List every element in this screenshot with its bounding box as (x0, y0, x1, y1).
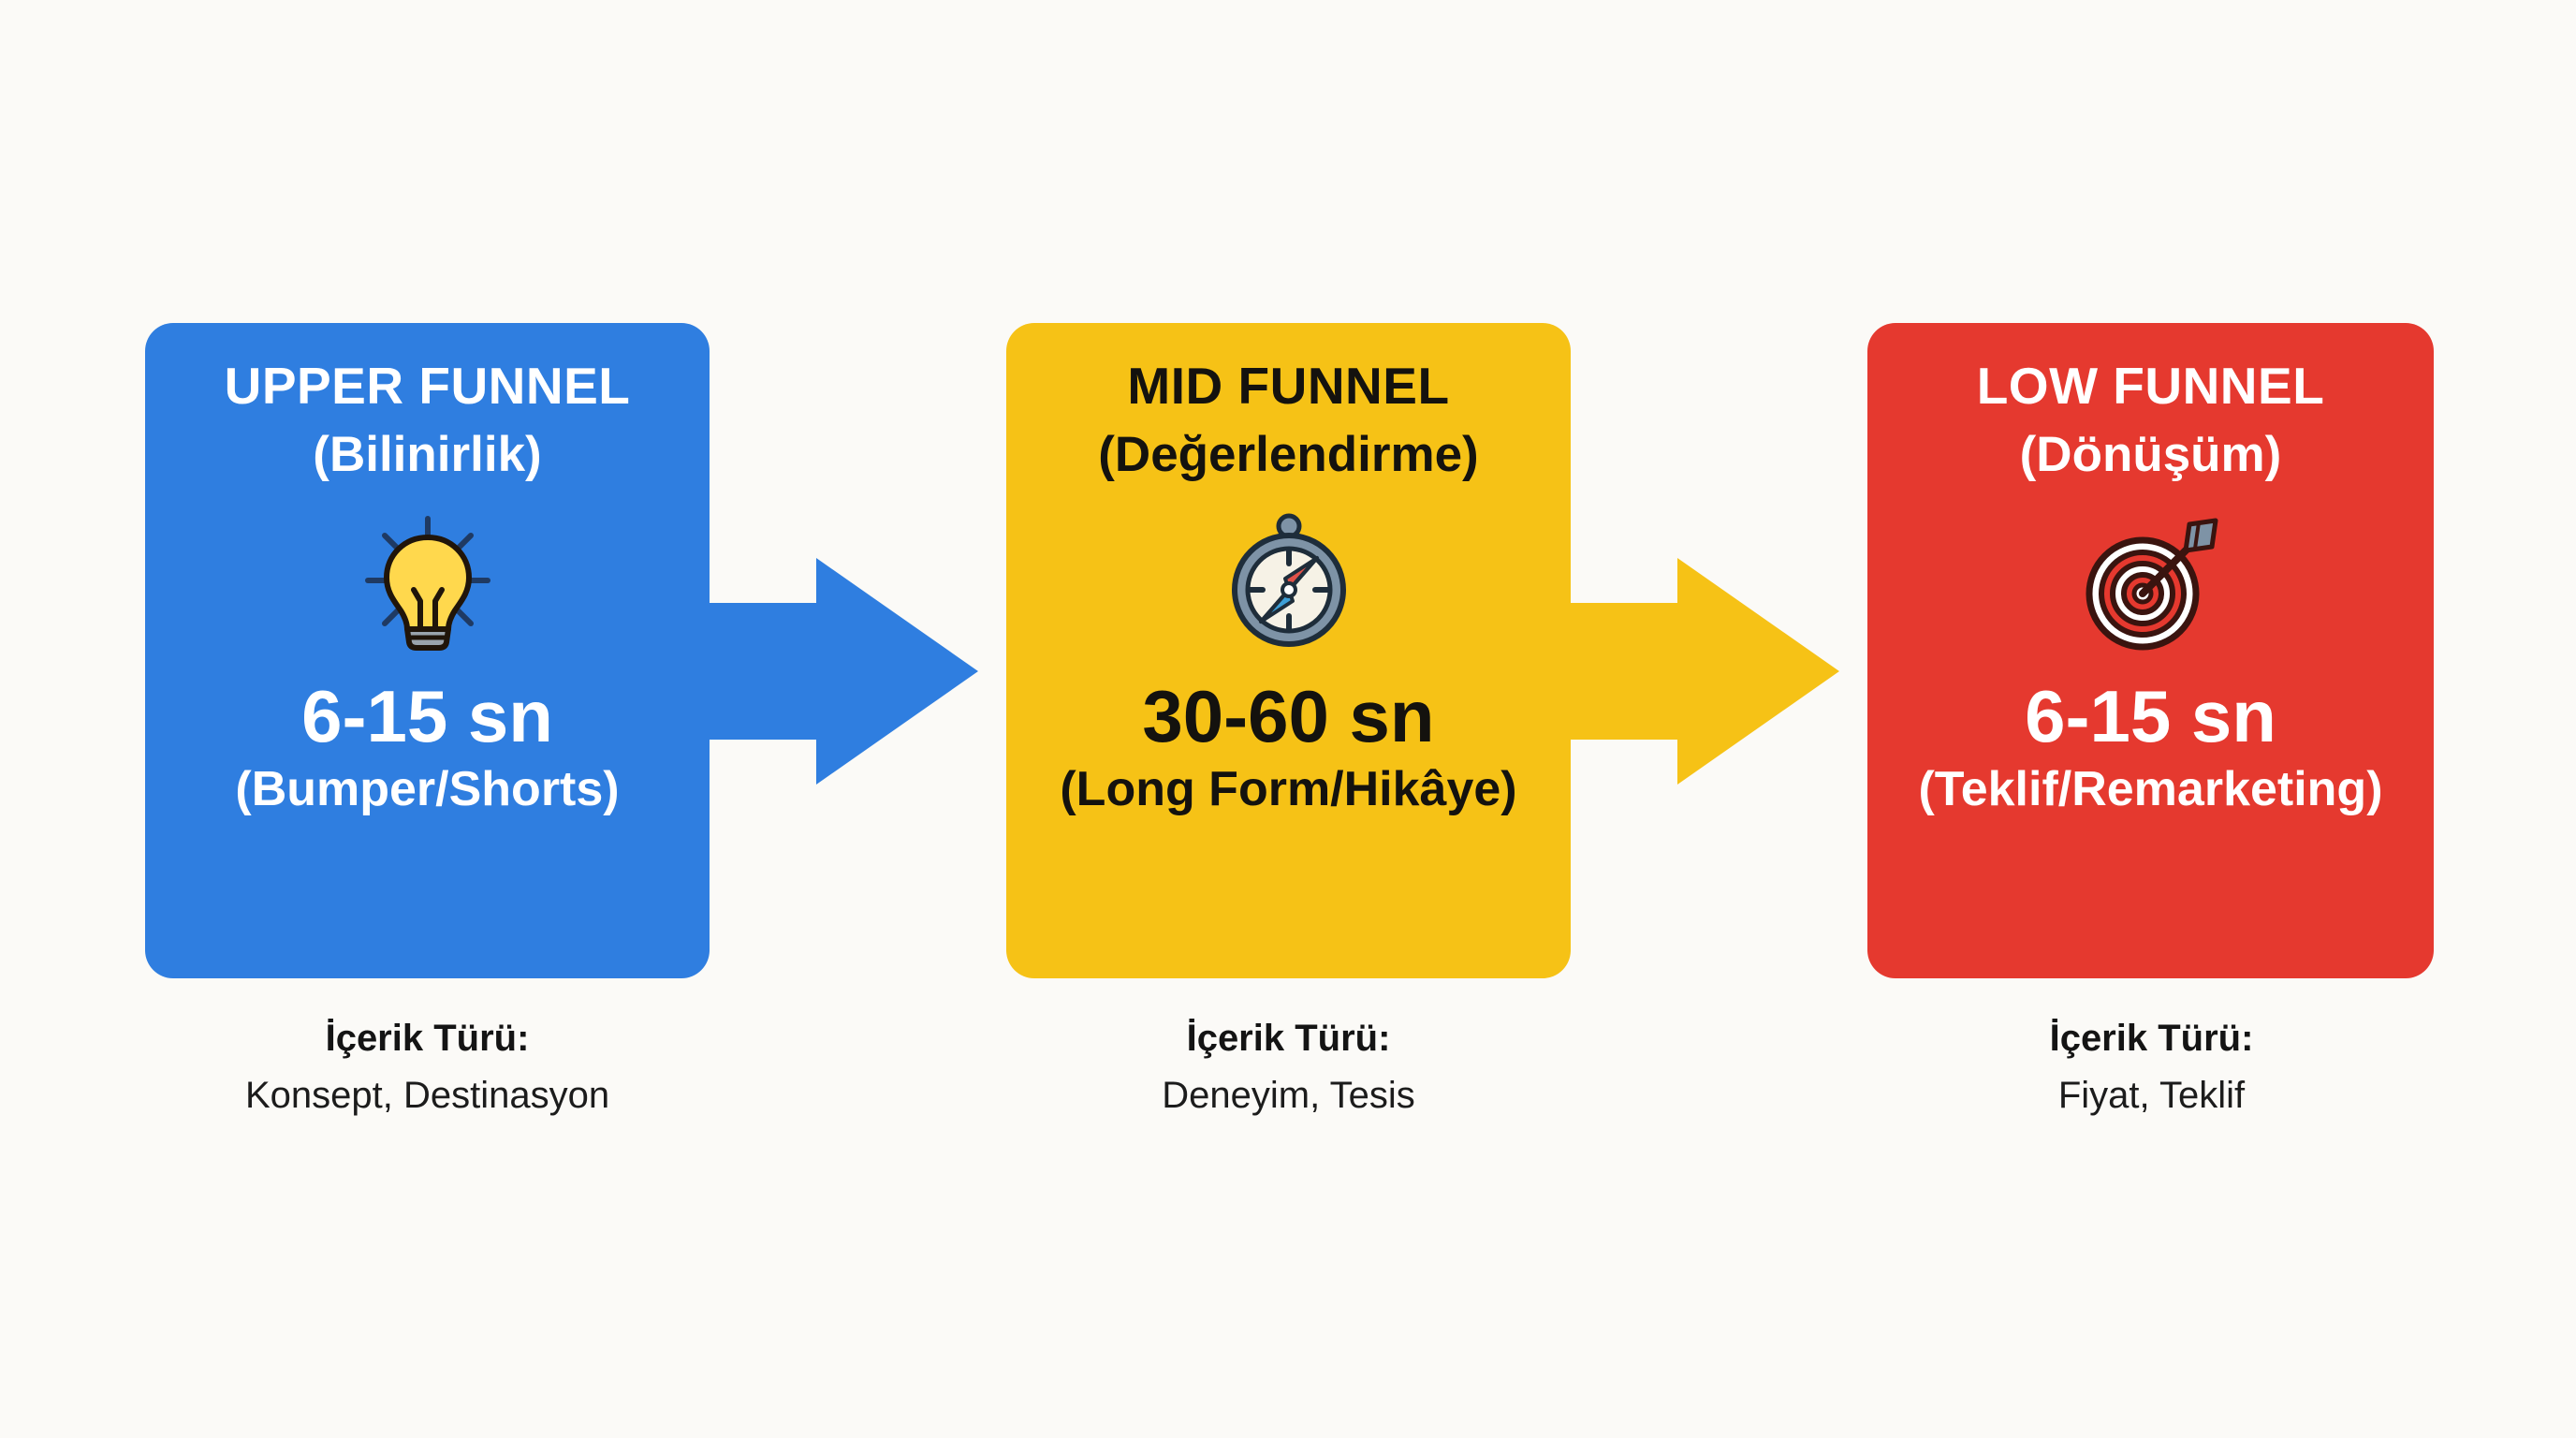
caption-mid: İçerik Türü: Deneyim, Tesis (1006, 1016, 1571, 1119)
caption-label-upper: İçerik Türü: (145, 1016, 710, 1061)
funnel-card-upper[interactable]: UPPER FUNNEL (Bilinirlik) (145, 323, 710, 978)
card-duration-upper: 6-15 sn (301, 680, 553, 753)
funnel-card-low[interactable]: LOW FUNNEL (Dönüşüm) 6-15 sn (Teklif/Rem… (1867, 323, 2434, 978)
lightbulb-icon (362, 513, 493, 653)
caption-value-mid: Deneyim, Tesis (1006, 1072, 1571, 1119)
caption-label-mid: İçerik Türü: (1006, 1016, 1571, 1061)
card-subtitle-low: (Dönüşüm) (2020, 429, 2282, 481)
funnel-diagram: UPPER FUNNEL (Bilinirlik) (0, 0, 2576, 1438)
card-format-upper: (Bumper/Shorts) (235, 764, 619, 815)
caption-label-low: İçerik Türü: (1869, 1016, 2434, 1061)
compass-icon (1225, 513, 1353, 653)
card-subtitle-mid: (Değerlendirme) (1098, 429, 1478, 481)
card-title-upper: UPPER FUNNEL (225, 360, 631, 412)
caption-value-low: Fiyat, Teklif (1869, 1072, 2434, 1119)
card-format-mid: (Long Form/Hikâye) (1060, 764, 1516, 815)
card-duration-low: 6-15 sn (2025, 680, 2276, 753)
caption-value-upper: Konsept, Destinasyon (145, 1072, 710, 1119)
target-icon (2081, 513, 2221, 653)
caption-upper: İçerik Türü: Konsept, Destinasyon (145, 1016, 710, 1119)
card-title-mid: MID FUNNEL (1127, 360, 1449, 412)
caption-low: İçerik Türü: Fiyat, Teklif (1869, 1016, 2434, 1119)
funnel-card-mid[interactable]: MID FUNNEL (Değerlendirme) (1006, 323, 1571, 978)
card-subtitle-upper: (Bilinirlik) (313, 429, 541, 481)
card-format-low: (Teklif/Remarketing) (1918, 764, 2382, 815)
card-duration-mid: 30-60 sn (1142, 680, 1434, 753)
card-title-low: LOW FUNNEL (1977, 360, 2325, 412)
